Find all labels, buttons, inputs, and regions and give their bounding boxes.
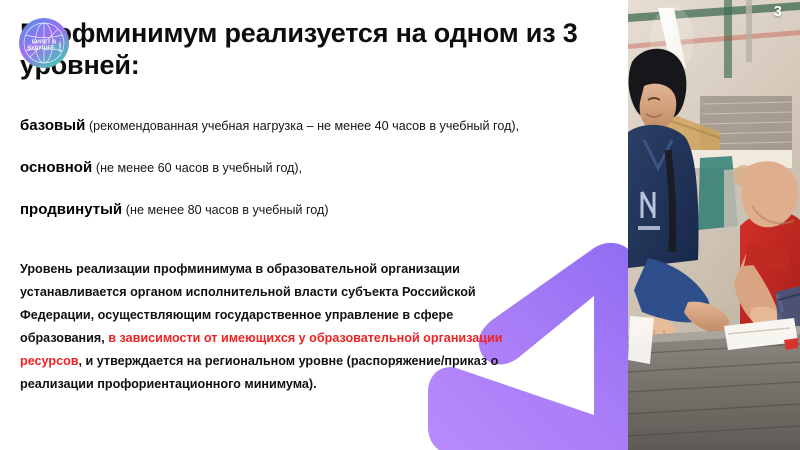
levels-list: базовый (рекомендованная учебная нагрузк…: [20, 116, 610, 221]
slide-content: Профминимум реализуется на одном из 3 ур…: [0, 0, 628, 450]
slide-root: Профминимум реализуется на одном из 3 ур…: [0, 0, 800, 450]
list-item: основной (не менее 60 часов в учебный го…: [20, 158, 610, 178]
level-name: основной: [20, 159, 92, 176]
logo-bilet-v-budushchee: БИЛЕТ В БУДУЩЕЕ ПРОЕКТ: [19, 18, 69, 68]
workshop-photo: [628, 0, 800, 450]
level-note: (не менее 60 часов в учебный год),: [96, 161, 302, 175]
level-note: (рекомендованная учебная нагрузка – не м…: [89, 119, 519, 133]
level-name: базовый: [20, 117, 85, 134]
list-item: базовый (рекомендованная учебная нагрузк…: [20, 116, 610, 136]
paragraph-part-2: , и утверждается на региональном уровне …: [20, 354, 498, 391]
logo-line-2: БУДУЩЕЕ: [27, 46, 55, 52]
logo-side-text: ПРОЕКТ: [59, 41, 62, 52]
list-item: продвинутый (не менее 80 часов в учебный…: [20, 200, 610, 220]
body-paragraph: Уровень реализации профминимума в образо…: [20, 258, 520, 395]
page-number: 3: [774, 4, 782, 19]
level-name: продвинутый: [20, 201, 122, 218]
level-note: (не менее 80 часов в учебный год): [126, 203, 329, 217]
page-title: Профминимум реализуется на одном из 3 ур…: [20, 18, 595, 82]
logo-line-1: БИЛЕТ В: [32, 40, 56, 46]
